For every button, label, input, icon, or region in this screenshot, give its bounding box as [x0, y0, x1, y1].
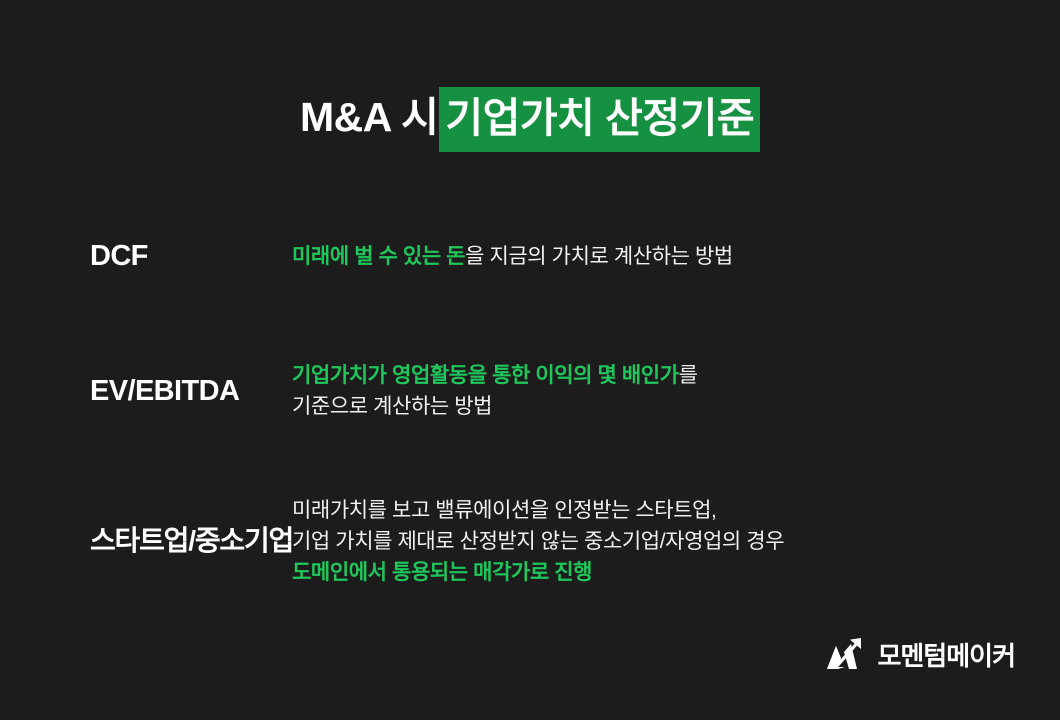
criteria-label-dcf: DCF — [0, 239, 292, 274]
criteria-description-ev-ebitda: 기업가치가 영업활동을 통한 이익의 몇 배인가를 기준으로 계산하는 방법 — [292, 360, 1060, 422]
slide-root: M&A 시 기업가치 산정기준 DCF 미래에 벌 수 있는 돈을 지금의 가치… — [0, 0, 1060, 720]
criteria-description-dcf: 미래에 벌 수 있는 돈을 지금의 가치로 계산하는 방법 — [292, 241, 1060, 272]
desc-line: 미래가치를 보고 밸류에이션을 인정받는 스타트업, — [292, 495, 1060, 526]
desc-emphasis: 미래에 벌 수 있는 돈 — [292, 245, 465, 268]
criteria-label-ev-ebitda: EV/EBITDA — [0, 374, 292, 409]
brand-logo: 모멘텀메이커 — [825, 636, 1015, 676]
brand-name: 모멘텀메이커 — [877, 643, 1015, 669]
desc-line: 기업 가치를 제대로 산정받지 않는 중소기업/자영업의 경우 — [292, 526, 1060, 557]
desc-plain: 를 — [679, 364, 698, 387]
desc-plain: 을 지금의 가치로 계산하는 방법 — [465, 245, 733, 268]
criteria-row-startup-sme: 스타트업/중소기업 미래가치를 보고 밸류에이션을 인정받는 스타트업, 기업 … — [0, 466, 1060, 616]
page-title-highlight: 기업가치 산정기준 — [439, 87, 760, 152]
page-title-plain: M&A 시 — [300, 93, 438, 142]
desc-line: 기준으로 계산하는 방법 — [292, 391, 1060, 422]
desc-emphasis: 기업가치가 영업활동을 통한 이익의 몇 배인가 — [292, 364, 679, 387]
criteria-label-startup-sme: 스타트업/중소기업 — [0, 524, 292, 558]
desc-line-emphasis: 도메인에서 통용되는 매각가로 진행 — [292, 557, 1060, 588]
criteria-description-startup-sme: 미래가치를 보고 밸류에이션을 인정받는 스타트업, 기업 가치를 제대로 산정… — [292, 495, 1060, 588]
momentum-maker-m-arrow-icon — [825, 636, 865, 676]
criteria-row-ev-ebitda: EV/EBITDA 기업가치가 영업활동을 통한 이익의 몇 배인가를 기준으로… — [0, 316, 1060, 466]
desc-line: 기업가치가 영업활동을 통한 이익의 몇 배인가를 — [292, 360, 1060, 391]
page-title: M&A 시 기업가치 산정기준 — [0, 86, 1060, 151]
criteria-list: DCF 미래에 벌 수 있는 돈을 지금의 가치로 계산하는 방법 EV/EBI… — [0, 196, 1060, 616]
desc-line: 미래에 벌 수 있는 돈을 지금의 가치로 계산하는 방법 — [292, 241, 1060, 272]
criteria-row-dcf: DCF 미래에 벌 수 있는 돈을 지금의 가치로 계산하는 방법 — [0, 196, 1060, 316]
